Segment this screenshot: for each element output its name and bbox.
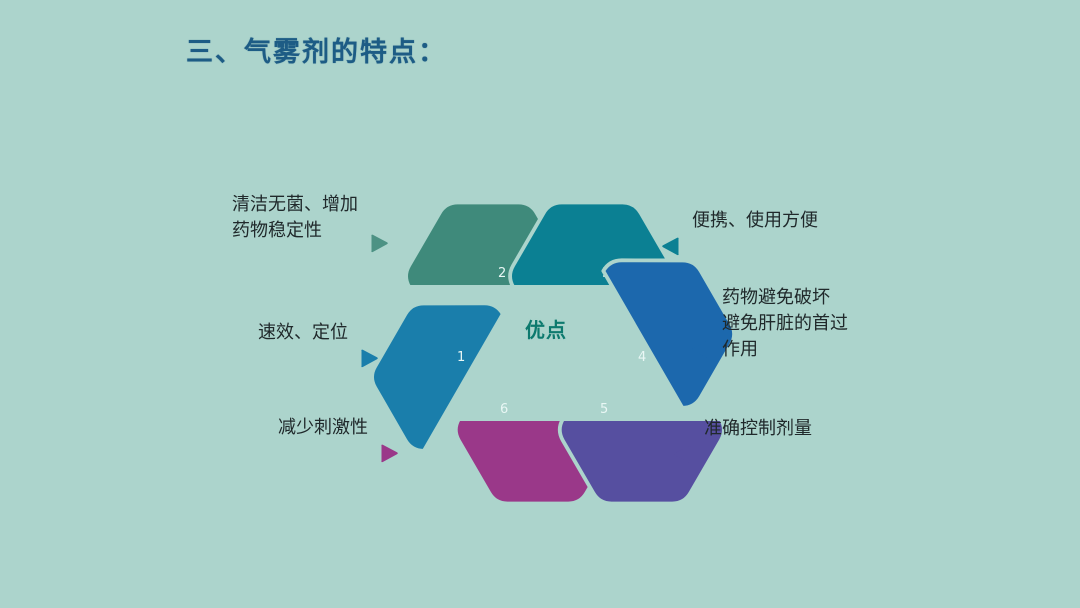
- callout-segment-2[interactable]: 清洁无菌、增加 药物稳定性: [232, 192, 390, 244]
- page-title: 三、气雾剂的特点：: [186, 30, 447, 69]
- callout-segment-4-label: 药物避免破坏 避免肝脏的首过 作用: [722, 285, 848, 363]
- triangle-marker-icon: [378, 417, 400, 439]
- callout-segment-5[interactable]: 准确控制剂量: [672, 416, 812, 442]
- callout-segment-6[interactable]: 减少刺激性: [278, 415, 400, 441]
- slide-canvas: 三、气雾剂的特点： 2 3 1: [0, 0, 1080, 608]
- callout-segment-1[interactable]: 速效、定位: [258, 320, 380, 346]
- triangle-marker-icon: [672, 418, 694, 440]
- callout-segment-6-label: 减少刺激性: [278, 415, 368, 441]
- hexagon-diagram: 2 3 1 4: [404, 196, 688, 472]
- callout-segment-3[interactable]: 便携、使用方便: [660, 208, 818, 234]
- triangle-marker-icon: [690, 313, 712, 335]
- hex-segment-5[interactable]: 5: [542, 360, 692, 510]
- callout-segment-3-label: 便携、使用方便: [692, 208, 818, 234]
- callout-segment-2-label: 清洁无菌、增加 药物稳定性: [232, 192, 358, 244]
- callout-segment-1-label: 速效、定位: [258, 320, 348, 346]
- callout-segment-4[interactable]: 药物避免破坏 避免肝脏的首过 作用: [690, 285, 848, 363]
- triangle-marker-icon: [358, 322, 380, 344]
- triangle-marker-icon: [660, 210, 682, 232]
- triangle-marker-icon: [368, 207, 390, 229]
- callout-segment-5-label: 准确控制剂量: [704, 416, 812, 442]
